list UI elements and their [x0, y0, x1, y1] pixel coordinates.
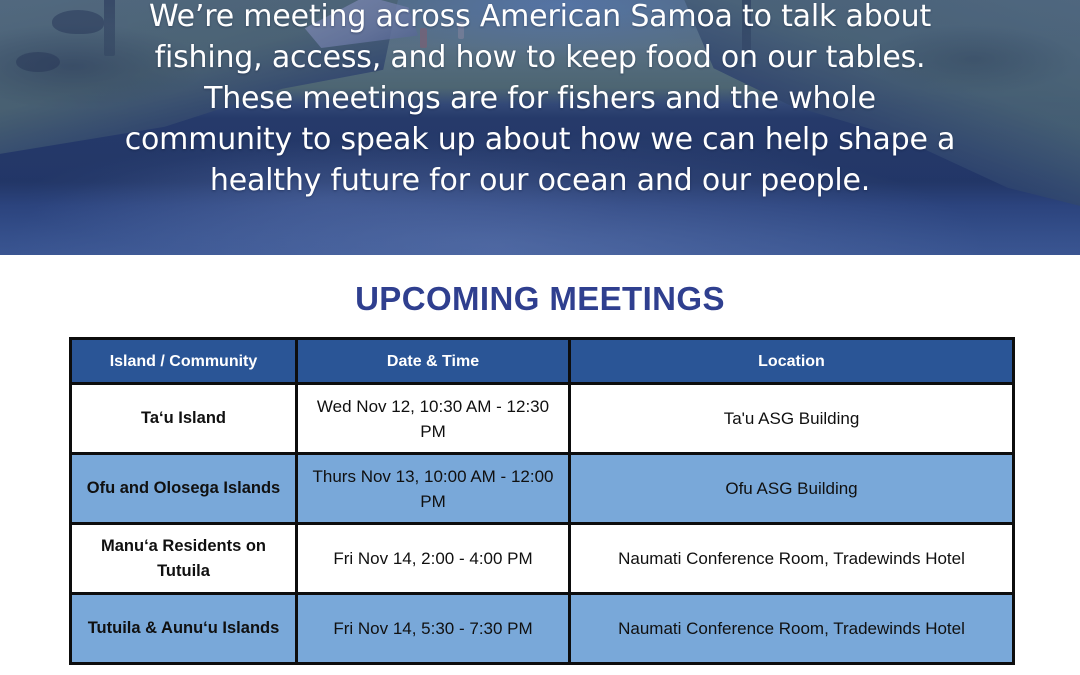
cell-datetime: Wed Nov 12, 10:30 AM - 12:30 PM	[297, 384, 570, 454]
hero-line-3: These meetings are for fishers and the w…	[70, 78, 1010, 119]
cell-datetime: Thurs Nov 13, 10:00 AM - 12:00 PM	[297, 454, 570, 524]
table-header-row: Island / Community Date & Time Location	[71, 339, 1014, 384]
table-row: Tutuila & Aunu‘u Islands Fri Nov 14, 5:3…	[71, 594, 1014, 664]
cell-location: Ta'u ASG Building	[570, 384, 1014, 454]
table-header: Island / Community Date & Time Location	[71, 339, 1014, 384]
cell-island: Manu‘a Residents on Tutuila	[71, 524, 297, 594]
meetings-table-container: Island / Community Date & Time Location …	[69, 337, 1012, 665]
column-header-datetime: Date & Time	[297, 339, 570, 384]
cell-island: Ofu and Olosega Islands	[71, 454, 297, 524]
hero-banner: We’re meeting across American Samoa to t…	[0, 0, 1080, 255]
column-header-location: Location	[570, 339, 1014, 384]
hero-line-4: community to speak up about how we can h…	[70, 119, 1010, 160]
table-row: Ta‘u Island Wed Nov 12, 10:30 AM - 12:30…	[71, 384, 1014, 454]
hero-message: We’re meeting across American Samoa to t…	[0, 0, 1080, 201]
cell-datetime: Fri Nov 14, 5:30 - 7:30 PM	[297, 594, 570, 664]
cell-location: Naumati Conference Room, Tradewinds Hote…	[570, 594, 1014, 664]
slide-page: We’re meeting across American Samoa to t…	[0, 0, 1080, 675]
cell-location: Naumati Conference Room, Tradewinds Hote…	[570, 524, 1014, 594]
cell-island: Ta‘u Island	[71, 384, 297, 454]
cell-location: Ofu ASG Building	[570, 454, 1014, 524]
hero-line-1: We’re meeting across American Samoa to t…	[70, 0, 1010, 37]
page-title: UPCOMING MEETINGS	[0, 280, 1080, 318]
table-row: Manu‘a Residents on Tutuila Fri Nov 14, …	[71, 524, 1014, 594]
table-row: Ofu and Olosega Islands Thurs Nov 13, 10…	[71, 454, 1014, 524]
column-header-island: Island / Community	[71, 339, 297, 384]
hero-line-5: healthy future for our ocean and our peo…	[70, 160, 1010, 201]
hero-line-2: fishing, access, and how to keep food on…	[70, 37, 1010, 78]
meetings-table: Island / Community Date & Time Location …	[69, 337, 1015, 665]
cell-datetime: Fri Nov 14, 2:00 - 4:00 PM	[297, 524, 570, 594]
table-body: Ta‘u Island Wed Nov 12, 10:30 AM - 12:30…	[71, 384, 1014, 664]
cell-island: Tutuila & Aunu‘u Islands	[71, 594, 297, 664]
